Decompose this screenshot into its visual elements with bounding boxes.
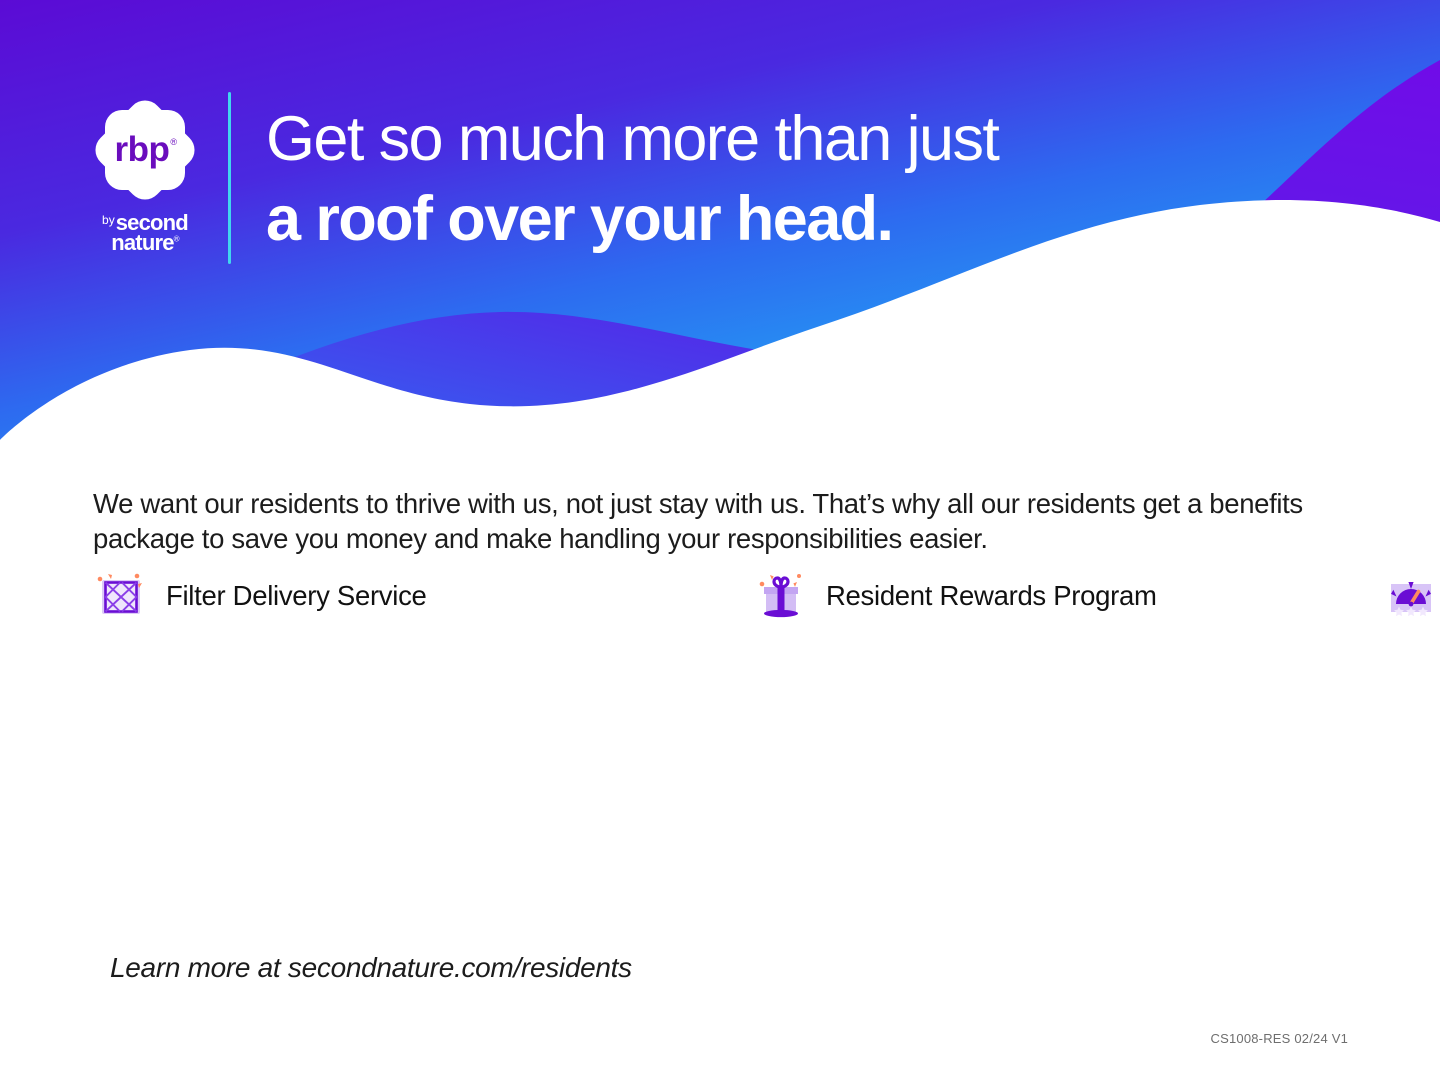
logo-by-label: by — [102, 213, 115, 227]
credit-gauge-icon — [1382, 567, 1440, 625]
rbp-logo-lockup: rbp® bysecond nature® — [84, 96, 206, 264]
logo-rbp-text: rbp® — [89, 96, 201, 204]
logo-wordmark-line2: nature® — [84, 232, 206, 254]
learn-more-text: Learn more at secondnature.com/residents — [110, 952, 632, 984]
rbp-logo-mark: rbp® — [89, 96, 201, 204]
benefit-item-resident-rewards-program: Resident Rewards Program — [752, 558, 1382, 634]
header-vertical-divider — [228, 92, 231, 264]
document-code: CS1008-RES 02/24 V1 — [1211, 1031, 1349, 1046]
headline-line-2: a roof over your head. — [266, 188, 998, 251]
logo-wordmark: bysecond nature® — [84, 212, 206, 254]
logo-registered-mark: ® — [170, 137, 176, 147]
benefit-label: Resident Rewards Program — [826, 580, 1157, 612]
logo-rbp-label: rbp — [114, 130, 169, 170]
benefit-item-filter-delivery-service: Filter Delivery Service — [92, 558, 752, 634]
benefits-grid: Filter Delivery Service Resident Rewards… — [92, 558, 1382, 634]
header-banner: rbp® bysecond nature® Get so much more t… — [0, 0, 1440, 440]
page-headline: Get so much more than just a roof over y… — [266, 108, 998, 251]
gift-icon — [752, 567, 810, 625]
logo-nature-registered-mark: ® — [174, 235, 179, 244]
headline-line-1: Get so much more than just — [266, 108, 998, 171]
intro-paragraph: We want our residents to thrive with us,… — [93, 486, 1308, 556]
logo-nature-label: nature — [111, 230, 173, 255]
benefit-item-credit-building: Credit Building — [1382, 558, 1440, 634]
benefit-label: Filter Delivery Service — [166, 580, 427, 612]
air-filter-icon — [92, 567, 150, 625]
